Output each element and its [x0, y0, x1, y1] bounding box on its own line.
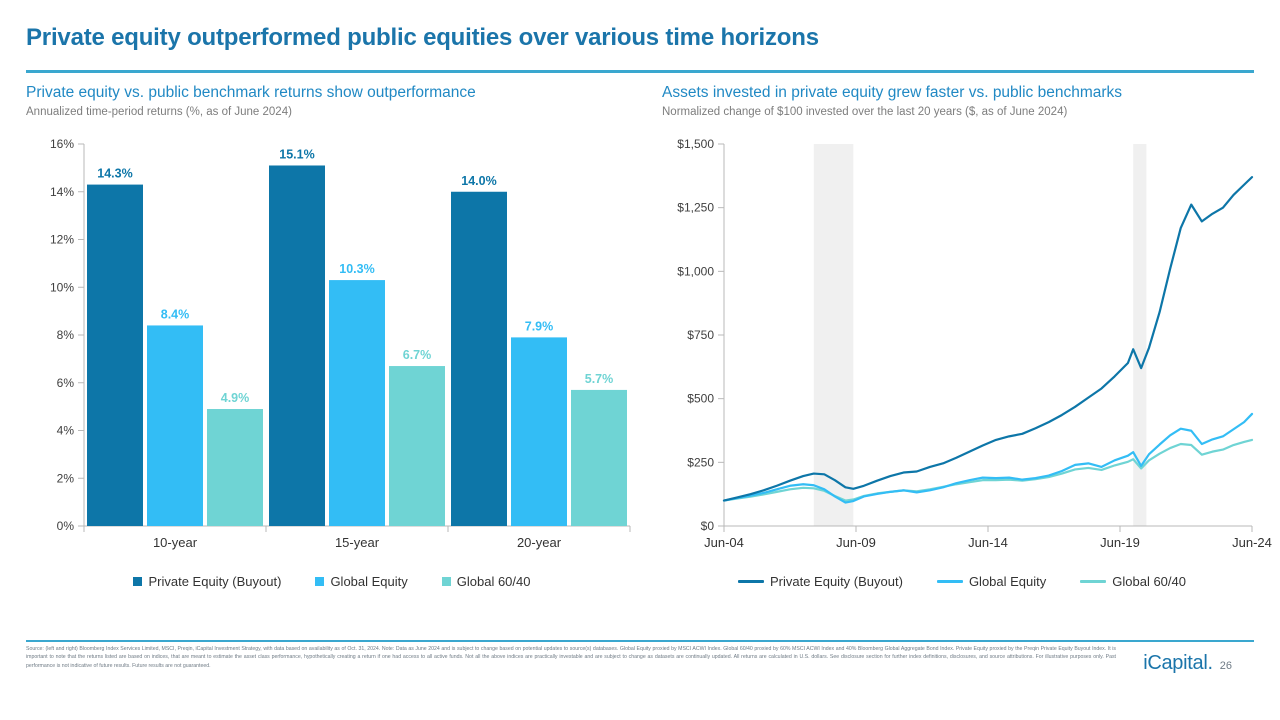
y-axis-label: 6% — [57, 376, 75, 390]
legend-line-icon — [1080, 580, 1106, 584]
x-axis-category-label: 15-year — [335, 535, 380, 550]
bar-value-label: 14.3% — [97, 167, 132, 181]
shaded-region-recession-2020 — [1133, 144, 1146, 526]
bar-chart-svg: 0%2%4%6%8%10%12%14%16%14.3%8.4%4.9%10-ye… — [26, 130, 638, 560]
y-axis-label: $1,250 — [677, 201, 714, 215]
x-axis-label: Jun-04 — [704, 535, 744, 550]
legend-swatch-icon — [442, 577, 451, 586]
bar-value-label: 8.4% — [161, 307, 190, 321]
y-axis-label: 8% — [57, 328, 75, 342]
left-chart-panel: Private equity vs. public benchmark retu… — [26, 84, 638, 624]
right-chart-legend: Private Equity (Buyout) Global Equity Gl… — [662, 574, 1262, 589]
y-axis-label: 4% — [57, 424, 75, 438]
y-axis-label: $500 — [687, 392, 714, 406]
legend-item-global-6040[interactable]: Global 60/40 — [442, 574, 531, 589]
legend-line-icon — [937, 580, 963, 584]
bar[interactable] — [87, 185, 143, 526]
page-number: 26 — [1220, 660, 1232, 672]
bar-value-label: 4.9% — [221, 391, 250, 405]
bar-chart: 0%2%4%6%8%10%12%14%16%14.3%8.4%4.9%10-ye… — [26, 130, 638, 560]
line-chart-svg: $0$250$500$750$1,000$1,250$1,500Jun-04Ju… — [662, 130, 1262, 560]
x-axis-category-label: 10-year — [153, 535, 198, 550]
right-chart-heading: Assets invested in private equity grew f… — [662, 84, 1262, 102]
legend-label: Global Equity — [330, 574, 407, 589]
y-axis-label: $1,500 — [677, 137, 714, 151]
footer-divider — [26, 640, 1254, 642]
slide: Private equity outperformed public equit… — [0, 0, 1280, 720]
x-axis-label: Jun-14 — [968, 535, 1008, 550]
bar[interactable] — [389, 366, 445, 526]
y-axis-label: $750 — [687, 328, 714, 342]
line-series[interactable] — [724, 177, 1252, 500]
bar[interactable] — [269, 165, 325, 526]
y-axis-label: $1,000 — [677, 264, 714, 278]
legend-label: Global Equity — [969, 574, 1046, 589]
shaded-region-recession-2008 — [814, 144, 854, 526]
legend-item-private-equity[interactable]: Private Equity (Buyout) — [133, 574, 281, 589]
y-axis-label: 16% — [50, 137, 74, 151]
y-axis-label: 0% — [57, 519, 75, 533]
y-axis-label: 14% — [50, 185, 74, 199]
legend-item-global-equity[interactable]: Global Equity — [937, 574, 1046, 589]
right-chart-subheading: Normalized change of $100 invested over … — [662, 106, 1262, 118]
bar[interactable] — [329, 280, 385, 526]
y-axis-label: 10% — [50, 280, 74, 294]
left-chart-heading: Private equity vs. public benchmark retu… — [26, 84, 638, 102]
legend-line-icon — [738, 580, 764, 584]
x-axis-label: Jun-19 — [1100, 535, 1140, 550]
bar[interactable] — [571, 390, 627, 526]
x-axis-label: Jun-24 — [1232, 535, 1272, 550]
bar-value-label: 15.1% — [279, 147, 314, 161]
icapital-logo: iCapital. — [1143, 652, 1213, 675]
y-axis-label: 2% — [57, 471, 75, 485]
y-axis-label: 12% — [50, 233, 74, 247]
bar[interactable] — [207, 409, 263, 526]
legend-swatch-icon — [315, 577, 324, 586]
legend-label: Private Equity (Buyout) — [148, 574, 281, 589]
line-series[interactable] — [724, 414, 1252, 503]
left-chart-legend: Private Equity (Buyout) Global Equity Gl… — [26, 574, 638, 589]
bar-value-label: 14.0% — [461, 174, 496, 188]
legend-label: Global 60/40 — [1112, 574, 1186, 589]
title-divider — [26, 70, 1254, 73]
right-chart-panel: Assets invested in private equity grew f… — [662, 84, 1262, 624]
y-axis-label: $250 — [687, 455, 714, 469]
bar-value-label: 5.7% — [585, 372, 614, 386]
left-chart-subheading: Annualized time-period returns (%, as of… — [26, 106, 638, 118]
legend-label: Private Equity (Buyout) — [770, 574, 903, 589]
y-axis-label: $0 — [701, 519, 715, 533]
source-footnote: Source: (left and right) Bloomberg Index… — [26, 645, 1116, 670]
bar-value-label: 10.3% — [339, 262, 374, 276]
brand-block: iCapital. 26 — [1143, 652, 1232, 675]
legend-item-global-6040[interactable]: Global 60/40 — [1080, 574, 1186, 589]
bar-value-label: 7.9% — [525, 319, 554, 333]
line-series[interactable] — [724, 440, 1252, 501]
legend-item-private-equity[interactable]: Private Equity (Buyout) — [738, 574, 903, 589]
bar[interactable] — [147, 325, 203, 526]
legend-item-global-equity[interactable]: Global Equity — [315, 574, 407, 589]
line-chart: $0$250$500$750$1,000$1,250$1,500Jun-04Ju… — [662, 130, 1262, 560]
legend-label: Global 60/40 — [457, 574, 531, 589]
legend-swatch-icon — [133, 577, 142, 586]
page-title: Private equity outperformed public equit… — [26, 24, 819, 52]
x-axis-category-label: 20-year — [517, 535, 562, 550]
x-axis-label: Jun-09 — [836, 535, 876, 550]
bar-value-label: 6.7% — [403, 348, 432, 362]
bar[interactable] — [511, 337, 567, 526]
bar[interactable] — [451, 192, 507, 526]
